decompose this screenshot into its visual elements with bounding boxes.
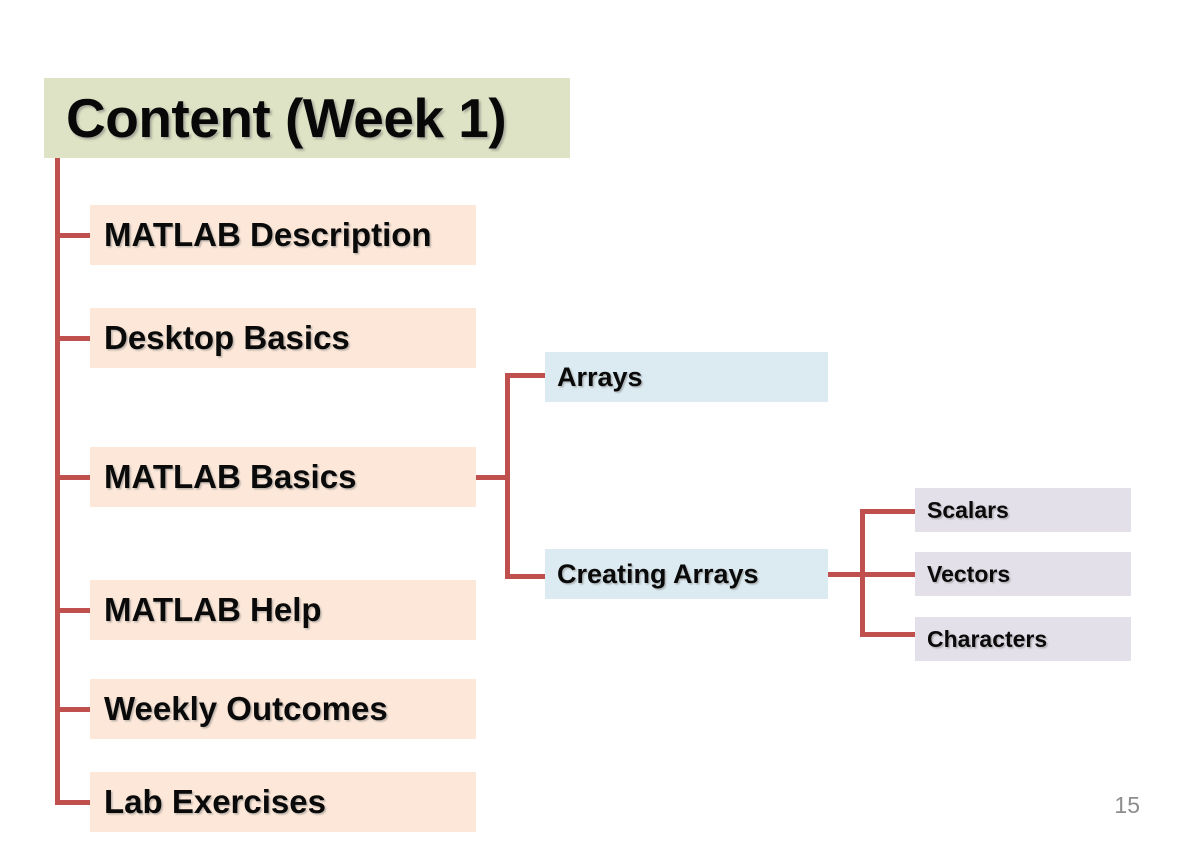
connector-level1-4 <box>55 608 92 613</box>
node-creating-arrays[interactable]: Creating Arrays <box>545 549 828 599</box>
node-arrays[interactable]: Arrays <box>545 352 828 402</box>
node-desktop-basics[interactable]: Desktop Basics <box>90 308 476 368</box>
connector-level2-vertical <box>505 373 510 579</box>
connector-level2-2 <box>505 574 547 579</box>
node-matlab-help[interactable]: MATLAB Help <box>90 580 476 640</box>
connector-level1-3 <box>55 475 92 480</box>
connector-level1-1 <box>55 233 92 238</box>
connector-level1-2 <box>55 336 92 341</box>
node-matlab-description[interactable]: MATLAB Description <box>90 205 476 265</box>
node-label: MATLAB Help <box>90 591 322 629</box>
connector-level1-5 <box>55 707 92 712</box>
connector-level1-6 <box>55 800 92 805</box>
node-label: Creating Arrays <box>545 559 759 590</box>
connector-level3-3 <box>860 632 917 637</box>
node-label: Vectors <box>915 561 1010 588</box>
node-label: Lab Exercises <box>90 783 326 821</box>
node-vectors[interactable]: Vectors <box>915 552 1131 596</box>
page-title: Content (Week 1) <box>44 78 570 158</box>
connector-level3-2 <box>860 572 917 577</box>
node-label: Characters <box>915 626 1047 653</box>
node-weekly-outcomes[interactable]: Weekly Outcomes <box>90 679 476 739</box>
page-number: 15 <box>1114 792 1140 819</box>
node-lab-exercises[interactable]: Lab Exercises <box>90 772 476 832</box>
page-title-text: Content (Week 1) <box>44 86 506 150</box>
node-label: MATLAB Description <box>90 216 432 254</box>
node-scalars[interactable]: Scalars <box>915 488 1131 532</box>
node-label: Arrays <box>545 362 643 393</box>
slide-canvas: Content (Week 1) MATLAB Description Desk… <box>0 0 1200 849</box>
node-label: Weekly Outcomes <box>90 690 388 728</box>
node-characters[interactable]: Characters <box>915 617 1131 661</box>
connector-level2-1 <box>505 373 547 378</box>
connector-level3-1 <box>860 509 917 514</box>
node-label: MATLAB Basics <box>90 458 356 496</box>
node-label: Desktop Basics <box>90 319 350 357</box>
node-label: Scalars <box>915 497 1009 524</box>
node-matlab-basics[interactable]: MATLAB Basics <box>90 447 476 507</box>
